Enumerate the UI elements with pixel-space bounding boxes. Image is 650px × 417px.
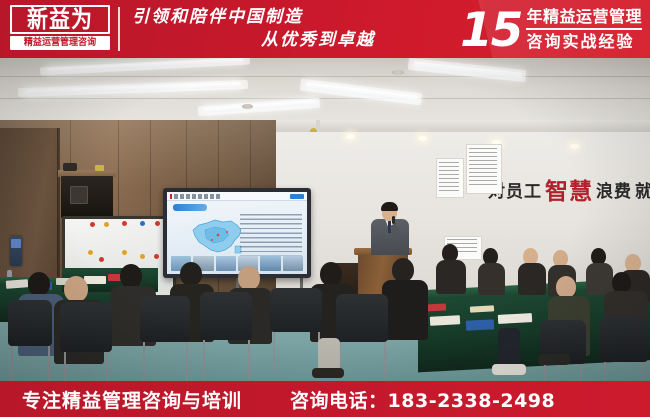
document <box>6 279 29 289</box>
whiteboard-magnet[interactable] <box>140 221 145 226</box>
document <box>84 276 106 284</box>
footer-left-text: 专注精益管理咨询与培训 <box>22 386 242 413</box>
attendee-torso <box>436 260 466 294</box>
brand-logo: 新益为 精益运营管理咨询 <box>10 5 110 53</box>
whiteboard-magnet[interactable] <box>122 250 127 255</box>
header-divider <box>118 7 120 51</box>
attendee-torso <box>478 263 505 295</box>
slide-thumbnail <box>283 256 303 271</box>
whiteboard-magnet[interactable] <box>122 221 127 226</box>
whiteboard-magnet[interactable] <box>90 222 95 227</box>
document <box>498 313 532 324</box>
footer-banner: 专注精益管理咨询与培训 咨询电话：183-2338-2498 <box>0 381 650 417</box>
ceiling-speaker <box>392 70 404 75</box>
document <box>430 315 460 326</box>
attendee-head <box>28 272 50 296</box>
ceiling-seam <box>0 98 650 99</box>
slide-body-text <box>240 214 302 256</box>
china-map-graphic <box>185 216 247 256</box>
attendee-head <box>320 262 342 286</box>
attendee-torso <box>518 263 546 295</box>
attendee-leg <box>318 338 340 372</box>
attendee-head <box>238 266 260 290</box>
footer-phone-number: 183-2338-2498 <box>388 390 556 412</box>
logo-mark: 新益为 <box>10 5 110 34</box>
ceiling-speaker <box>242 104 253 109</box>
attendee-head <box>180 262 202 286</box>
downlight <box>418 136 427 141</box>
whiteboard-magnet[interactable] <box>88 250 93 255</box>
folder <box>466 319 494 330</box>
ceiling-seam <box>0 76 650 77</box>
downlight <box>346 134 355 139</box>
attendee-head <box>64 276 88 302</box>
slide-title-accent <box>170 194 172 199</box>
wall-slogan-part2: 浪费 <box>596 177 632 202</box>
slide-title-text <box>174 194 222 199</box>
whiteboard-magnet[interactable] <box>104 222 109 227</box>
header-slogan: 引领和陪伴中国制造 从优秀到卓越 <box>128 6 393 54</box>
shelf-object <box>95 165 104 171</box>
shoe <box>312 368 344 378</box>
whiteboard-magnet[interactable] <box>99 257 104 262</box>
whiteboard-magnet[interactable] <box>155 221 160 226</box>
door-lock-screen <box>11 239 21 248</box>
slogan-line-1: 引领和陪伴中国制造 <box>128 6 393 29</box>
slogan-line-2: 从优秀到卓越 <box>128 29 393 52</box>
footer-contact: 咨询电话：183-2338-2498 <box>290 386 555 413</box>
footer-phone-label: 咨询电话： <box>290 390 388 412</box>
shelf-object <box>63 163 77 171</box>
slide-section-label <box>173 204 207 211</box>
wall-poster-lines <box>439 162 459 192</box>
training-room-photo: 对员工 智慧 浪费 就 <box>0 58 650 381</box>
attendee-torso <box>382 280 428 340</box>
header-banner: 新益为 精益运营管理咨询 引领和陪伴中国制造 从优秀到卓越 15 年精益运营管理… <box>0 0 650 58</box>
experience-line-1: 年精益运营管理 <box>526 7 642 30</box>
downlight <box>570 144 579 149</box>
wall-slogan-part3: 就 <box>635 177 650 202</box>
attendee-head <box>392 258 414 282</box>
niche-control-panel[interactable] <box>70 186 88 204</box>
presenter-hair <box>381 202 398 211</box>
shoe <box>538 354 570 365</box>
logo-tagline-text: 精益运营管理咨询 <box>24 38 96 48</box>
attendee-head <box>556 276 576 298</box>
slide-badge <box>290 194 304 199</box>
experience-line-2: 咨询实战经验 <box>526 30 642 52</box>
microphone <box>392 216 395 224</box>
slide-thumbnail <box>260 256 280 271</box>
logo-tagline-plate: 精益运营管理咨询 <box>10 36 110 50</box>
attendee-torso <box>586 263 613 295</box>
poster-root: 新益为 精益运营管理咨询 引领和陪伴中国制造 从优秀到卓越 15 年精益运营管理… <box>0 0 650 417</box>
attendee-head <box>120 264 142 288</box>
wall-poster-lines <box>469 148 497 188</box>
wall-slogan: 对员工 智慧 浪费 就 <box>488 176 650 202</box>
attendee-head <box>612 272 631 293</box>
logo-brand-text: 新益为 <box>27 8 93 32</box>
whiteboard-magnet[interactable] <box>154 254 159 259</box>
slide-thumbnail <box>216 256 236 271</box>
attendee-leg <box>498 328 520 368</box>
experience-block: 15 年精益运营管理 咨询实战经验 <box>460 1 642 57</box>
whiteboard-magnet[interactable] <box>140 254 145 259</box>
document <box>470 305 494 312</box>
experience-text: 年精益运营管理 咨询实战经验 <box>526 7 642 52</box>
shoe <box>492 364 526 375</box>
wall-slogan-highlight: 智慧 <box>545 172 593 206</box>
experience-number: 15 <box>460 7 521 54</box>
